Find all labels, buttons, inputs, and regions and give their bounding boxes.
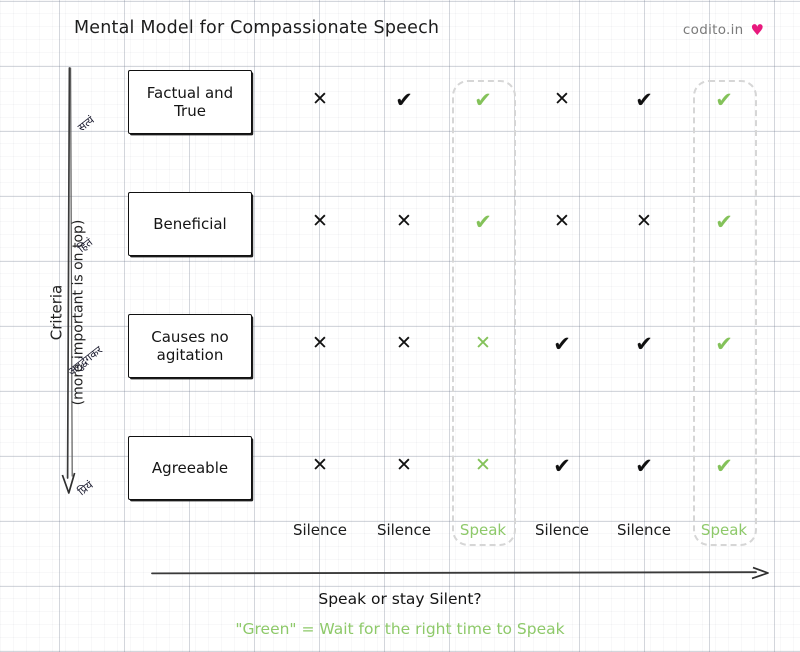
matrix-cell-3-3-cross-icon: ✕ [461,334,505,353]
matrix-cell-2-3-check-icon: ✔ [461,212,505,233]
heart-icon: ♥ [751,23,764,38]
criterion-line: agitation [151,346,228,364]
page-title: Mental Model for Compassionate Speech [74,18,439,38]
y-axis-arrow-icon [60,66,78,496]
criterion-box-agreeable[interactable]: Agreeable [128,436,252,500]
brand-name: codito.in [683,22,744,38]
matrix-cell-3-6-check-icon: ✔ [702,334,746,355]
criterion-box-factual-and-true[interactable]: Factual and True [128,70,252,134]
matrix-cell-2-2-cross-icon: ✕ [382,212,426,231]
matrix-cell-4-1-cross-icon: ✕ [298,456,342,475]
brand-logo: codito.in ♥ [683,22,764,38]
matrix-cell-1-4-cross-icon: ✕ [540,90,584,109]
matrix-cell-4-6-check-icon: ✔ [702,456,746,477]
matrix-cell-3-2-cross-icon: ✕ [382,334,426,353]
legend-note: "Green" = Wait for the right time to Spe… [0,620,800,638]
matrix-cell-2-6-check-icon: ✔ [702,212,746,233]
criterion-line: True [147,102,233,120]
column-outcome-label-1: Silence [277,521,363,539]
x-axis-arrow-icon [150,566,770,582]
matrix-cell-3-1-cross-icon: ✕ [298,334,342,353]
matrix-cell-2-1-cross-icon: ✕ [298,212,342,231]
column-outcome-label-3: Speak [440,521,526,539]
matrix-cell-4-2-cross-icon: ✕ [382,456,426,475]
highlight-column-3 [452,80,516,546]
criterion-line: Agreeable [152,459,228,477]
matrix-cell-1-2-check-icon: ✔ [382,90,426,111]
matrix-cell-3-5-check-icon: ✔ [622,334,666,355]
criterion-line: Causes no [151,328,228,346]
criterion-box-causes-no-agitation[interactable]: Causes no agitation [128,314,252,378]
column-outcome-label-2: Silence [361,521,447,539]
sanskrit-label-0: सत्यं [75,113,98,135]
criterion-line: Beneficial [153,215,226,233]
matrix-cell-2-4-cross-icon: ✕ [540,212,584,231]
x-axis-label: Speak or stay Silent? [0,590,800,608]
column-outcome-label-4: Silence [519,521,605,539]
criterion-line: Factual and [147,84,233,102]
matrix-cell-3-4-check-icon: ✔ [540,334,584,355]
matrix-cell-4-3-cross-icon: ✕ [461,456,505,475]
matrix-cell-1-1-cross-icon: ✕ [298,90,342,109]
matrix-cell-4-5-check-icon: ✔ [622,456,666,477]
criterion-box-beneficial[interactable]: Beneficial [128,192,252,256]
column-outcome-label-6: Speak [681,521,767,539]
matrix-cell-1-5-check-icon: ✔ [622,90,666,111]
matrix-cell-1-6-check-icon: ✔ [702,90,746,111]
matrix-cell-1-3-check-icon: ✔ [461,90,505,111]
matrix-cell-4-4-check-icon: ✔ [540,456,584,477]
diagram-canvas: Mental Model for Compassionate Speech co… [0,0,800,652]
matrix-cell-2-5-cross-icon: ✕ [622,212,666,231]
column-outcome-label-5: Silence [601,521,687,539]
